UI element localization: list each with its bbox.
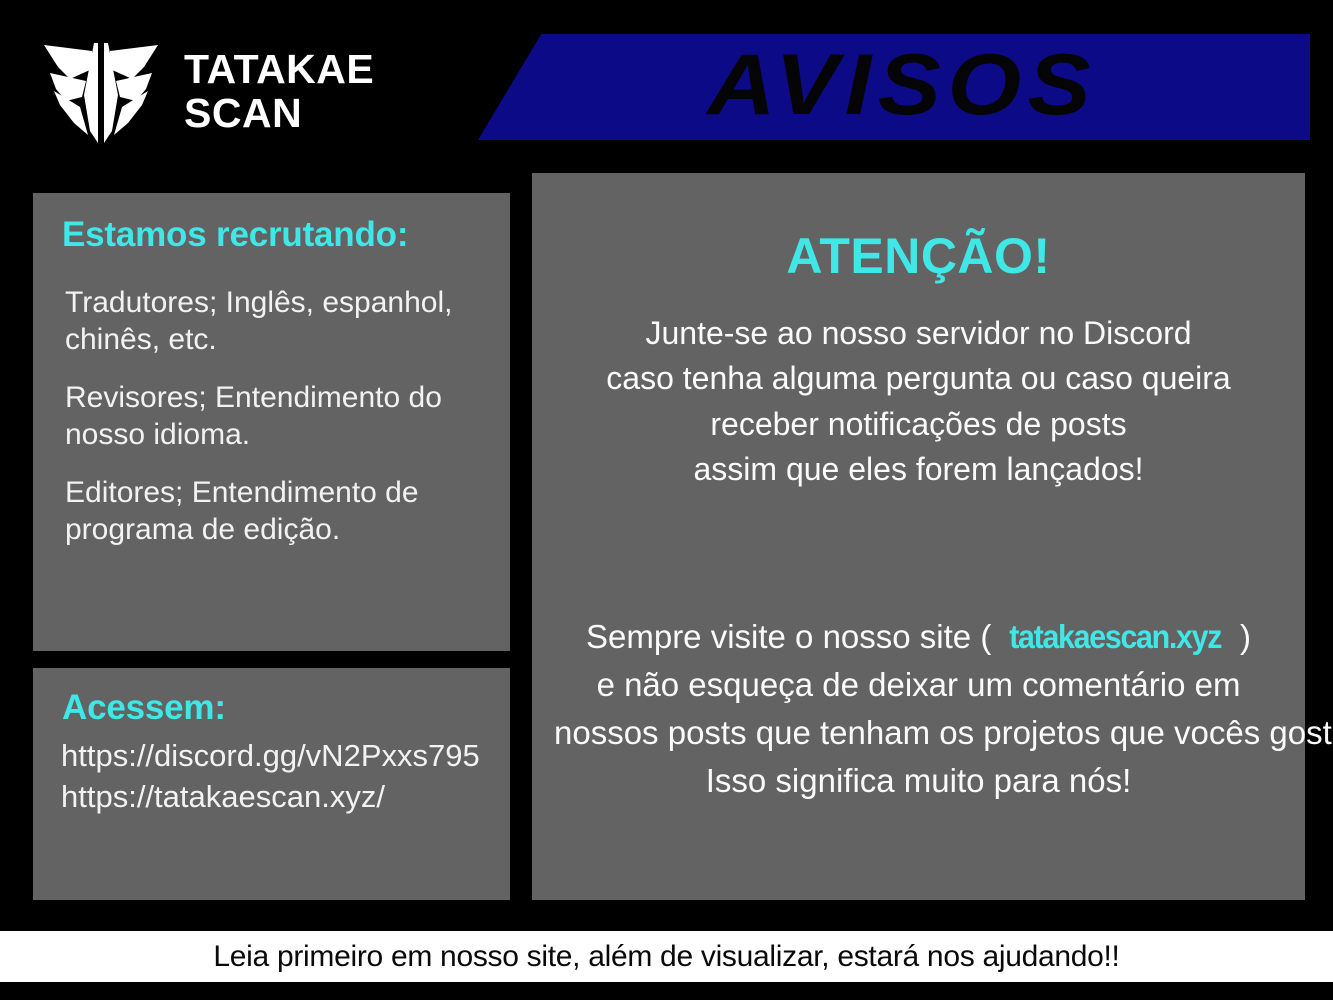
tatakae-emblem-icon (40, 35, 162, 147)
recruiting-panel: Estamos recrutando: Tradutores; Inglês, … (33, 193, 510, 651)
page-header: TATAKAE SCAN AVISOS (0, 0, 1333, 170)
brand-lockup: TATAKAE SCAN (40, 35, 374, 147)
avisos-banner: AVISOS (478, 34, 1310, 140)
avisos-title: AVISOS (707, 42, 1097, 128)
website-link[interactable]: https://tatakaescan.xyz/ (47, 777, 496, 818)
recruiting-heading: Estamos recrutando: (62, 215, 496, 255)
links-heading: Acessem: (62, 688, 496, 728)
notice-line: nossos posts que tenham os projetos que … (554, 709, 1283, 757)
notice-line: Isso significa muito para nós! (554, 757, 1283, 805)
site-url-highlight[interactable]: tatakaescan.xyz (1010, 613, 1222, 661)
notice-line: Junte-se ao nosso servidor no Discord (554, 311, 1283, 356)
discord-invite-message: Junte-se ao nosso servidor no Discord ca… (554, 311, 1283, 493)
footer-message: Leia primeiro em nosso site, além de vis… (213, 940, 1119, 974)
recruiting-role-reviewers: Revisores; Entendimento do nosso idioma. (47, 380, 496, 453)
notice-heading: ATENÇÃO! (554, 227, 1283, 285)
site-suffix-text: ) (1231, 618, 1251, 655)
notice-line: caso tenha alguma pergunta ou caso queir… (554, 356, 1283, 401)
notice-line: e não esqueça de deixar um comentário em (554, 661, 1283, 709)
brand-line-2: SCAN (184, 91, 374, 135)
notice-line: receber notificações de posts (554, 402, 1283, 447)
notice-line-site: Sempre visite o nosso site ( tatakaescan… (554, 613, 1283, 661)
site-prefix-text: Sempre visite o nosso site ( (586, 618, 1001, 655)
recruiting-role-editors: Editores; Entendimento de programa de ed… (47, 475, 496, 548)
site-visit-message: Sempre visite o nosso site ( tatakaescan… (554, 613, 1283, 806)
footer-bar: Leia primeiro em nosso site, além de vis… (0, 931, 1333, 982)
brand-line-1: TATAKAE (184, 47, 374, 91)
brand-name: TATAKAE SCAN (184, 47, 374, 136)
notice-panel: ATENÇÃO! Junte-se ao nosso servidor no D… (532, 173, 1305, 900)
notice-line: assim que eles forem lançados! (554, 447, 1283, 492)
recruiting-role-translators: Tradutores; Inglês, espanhol, chinês, et… (47, 285, 496, 358)
discord-invite-link[interactable]: https://discord.gg/vN2Pxxs795 (47, 736, 496, 777)
links-panel: Acessem: https://discord.gg/vN2Pxxs795 h… (33, 668, 510, 900)
